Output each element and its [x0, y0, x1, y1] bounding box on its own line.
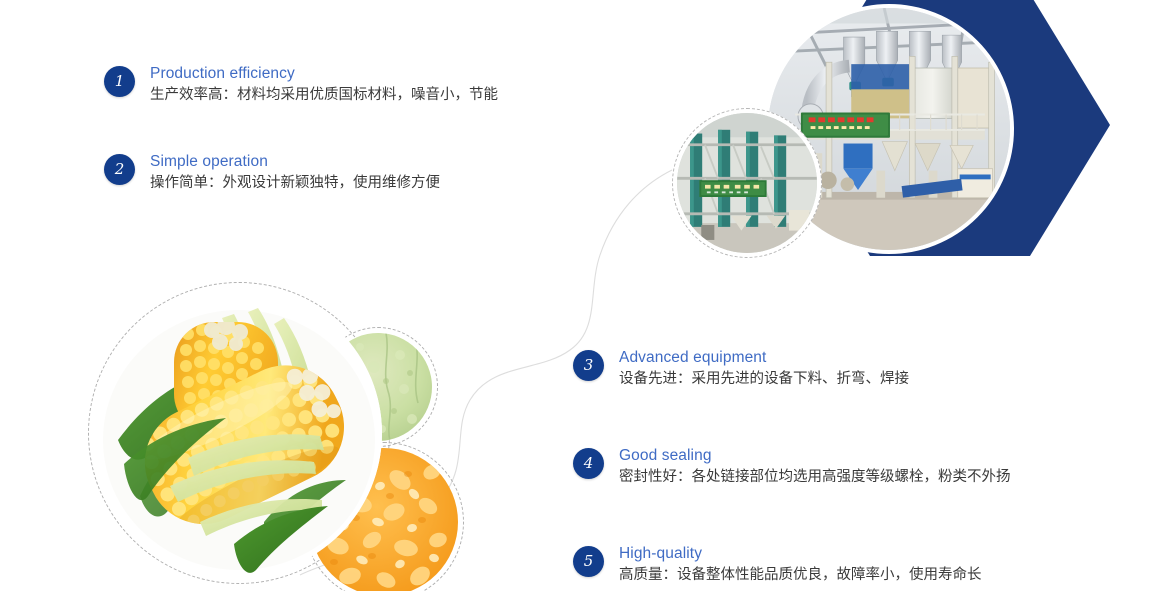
feature-title: Production efficiency — [150, 64, 498, 83]
feature-description: 高质量：设备整体性能品质优良，故障率小，使用寿命长 — [619, 564, 982, 586]
feature-item-1: 1 Production efficiency 生产效率高：材料均采用优质国标材… — [104, 64, 574, 106]
feature-title: Advanced equipment — [619, 348, 909, 367]
feature-number-badge: 4 — [573, 448, 604, 479]
corn-cob-photo — [96, 290, 382, 576]
feature-item-2: 2 Simple operation 操作简单：外观设计新颖独特，使用维修方便 — [104, 152, 574, 194]
feature-number-badge: 5 — [573, 546, 604, 577]
feature-item-4: 4 Good sealing 密封性好：各处链接部位均选用高强度等级螺栓，粉类不… — [573, 446, 1093, 488]
feature-text-block: Good sealing 密封性好：各处链接部位均选用高强度等级螺栓，粉类不外扬 — [619, 446, 1011, 488]
feature-text-block: Simple operation 操作简单：外观设计新颖独特，使用维修方便 — [150, 152, 440, 194]
feature-title: High-quality — [619, 544, 982, 563]
feature-description: 密封性好：各处链接部位均选用高强度等级螺栓，粉类不外扬 — [619, 466, 1011, 488]
feature-title: Good sealing — [619, 446, 1011, 465]
feature-description: 操作简单：外观设计新颖独特，使用维修方便 — [150, 172, 440, 194]
feature-list-right: 3 Advanced equipment 设备先进：采用先进的设备下料、折弯、焊… — [573, 348, 1093, 591]
feature-list-left: 1 Production efficiency 生产效率高：材料均采用优质国标材… — [104, 64, 574, 240]
produce-photo-group — [88, 282, 488, 591]
feature-number-badge: 2 — [104, 154, 135, 185]
feature-description: 设备先进：采用先进的设备下料、折弯、焊接 — [619, 368, 909, 390]
feature-text-block: Production efficiency 生产效率高：材料均采用优质国标材料，… — [150, 64, 498, 106]
feature-item-5: 5 High-quality 高质量：设备整体性能品质优良，故障率小，使用寿命长 — [573, 544, 1093, 586]
product-advantages-section: 1 Production efficiency 生产效率高：材料均采用优质国标材… — [0, 0, 1154, 591]
feature-text-block: High-quality 高质量：设备整体性能品质优良，故障率小，使用寿命长 — [619, 544, 982, 586]
feature-number-badge: 3 — [573, 350, 604, 381]
feature-number-badge: 1 — [104, 66, 135, 97]
feature-description: 生产效率高：材料均采用优质国标材料，噪音小，节能 — [150, 84, 498, 106]
feature-text-block: Advanced equipment 设备先进：采用先进的设备下料、折弯、焊接 — [619, 348, 909, 390]
feature-title: Simple operation — [150, 152, 440, 171]
feature-item-3: 3 Advanced equipment 设备先进：采用先进的设备下料、折弯、焊… — [573, 348, 1093, 390]
green-mill-equipment-photo — [672, 108, 822, 258]
